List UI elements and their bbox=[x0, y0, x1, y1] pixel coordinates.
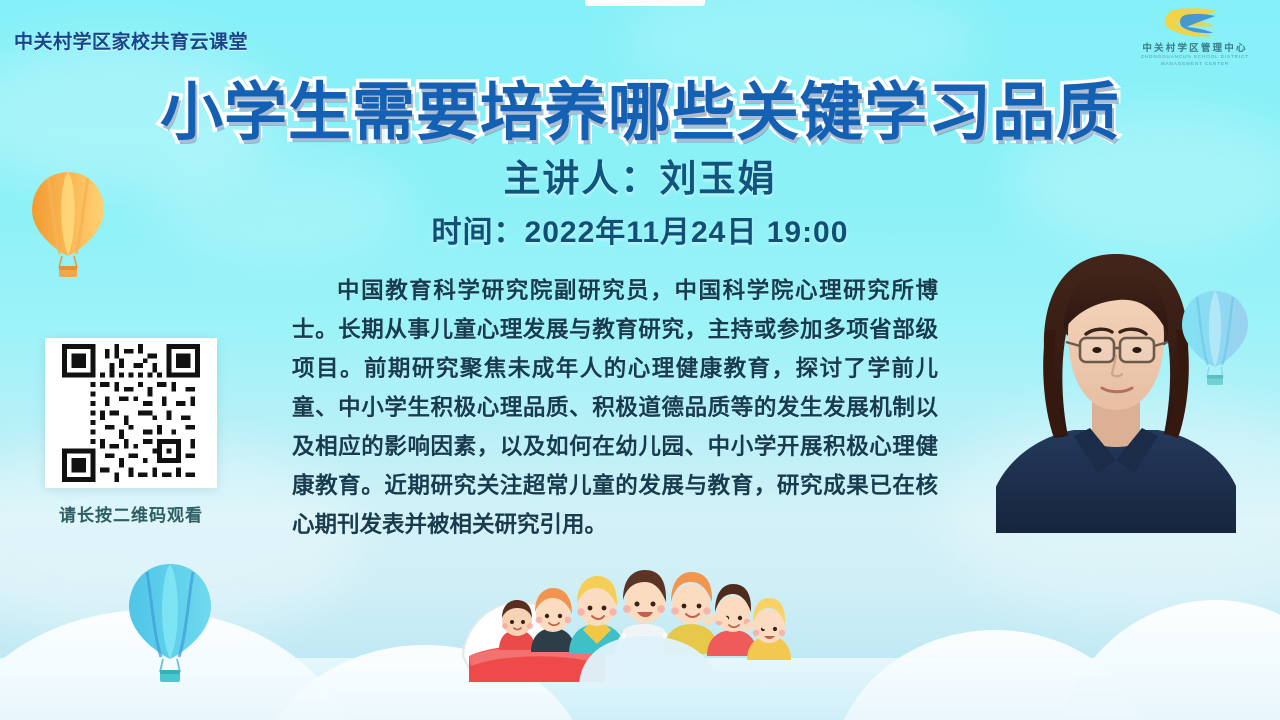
qr-block[interactable]: 请长按二维码观看 bbox=[45, 338, 217, 526]
qr-code-icon[interactable] bbox=[51, 344, 211, 482]
hot-air-balloon-orange-icon bbox=[26, 168, 110, 280]
kids-illustration bbox=[455, 556, 815, 688]
logo-swoosh-icon bbox=[1134, 6, 1256, 38]
hot-air-balloon-blue-icon bbox=[122, 560, 218, 686]
hot-air-balloon-cyan-icon bbox=[1178, 288, 1252, 388]
qr-caption: 请长按二维码观看 bbox=[45, 501, 217, 526]
page-title: 小学生需要培养哪些关键学习品质 bbox=[0, 62, 1280, 153]
logo-name-cn: 中关村学区管理中心 bbox=[1134, 40, 1256, 54]
top-notch-bar bbox=[585, 0, 705, 6]
speaker-bio: 中国教育科学研究院副研究员，中国科学院心理研究所博士。长期从事儿童心理发展与教育… bbox=[292, 272, 938, 545]
qr-card[interactable] bbox=[45, 338, 217, 488]
speaker-line: 主讲人：刘玉娟 bbox=[0, 148, 1280, 202]
logo-name-en-line1: ZHONGGUANCUN SCHOOL DISTRICT bbox=[1134, 54, 1256, 61]
brand-line: 中关村学区家校共育云课堂 bbox=[14, 27, 248, 54]
logo: 中关村学区管理中心 ZHONGGUANCUN SCHOOL DISTRICT M… bbox=[1134, 6, 1256, 68]
poster-canvas: 中关村学区家校共育云课堂 中关村学区管理中心 ZHONGGUANCUN SCHO… bbox=[0, 0, 1280, 720]
